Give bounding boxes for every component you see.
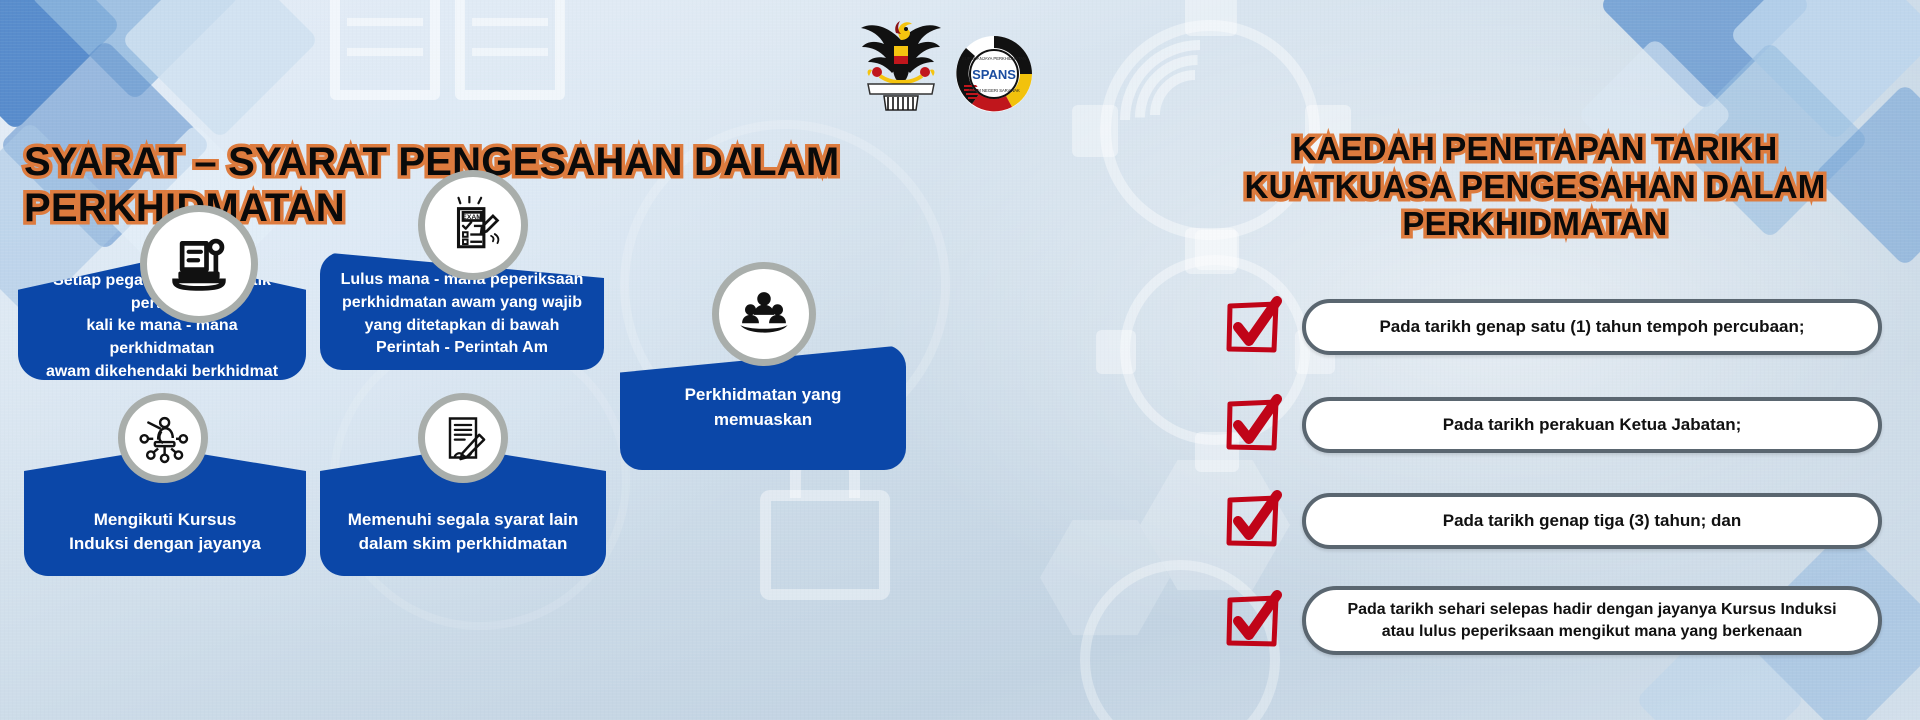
svg-text:SURUHANJAYA PERKHIDMATAN: SURUHANJAYA PERKHIDMATAN	[962, 56, 1026, 61]
card-text: Mengikuti Kursus Induksi dengan jayanya	[38, 508, 292, 556]
card-text: Lulus mana - mana peperiksaan perkhidmat…	[334, 269, 590, 360]
decorative-diamond	[29, 0, 241, 101]
shelf-outline-icon	[330, 0, 440, 100]
gear-tooth	[1072, 105, 1118, 157]
check-item-1[interactable]: Pada tarikh genap satu (1) tahun tempoh …	[1222, 296, 1882, 358]
gear-tooth	[1096, 330, 1136, 374]
check-box-glyph	[1222, 590, 1284, 652]
check-box-icon[interactable]	[1222, 590, 1284, 652]
check-item-4[interactable]: Pada tarikh sehari selepas hadir dengan …	[1222, 586, 1882, 655]
shelf-outline-icon	[455, 0, 565, 100]
card-text: Perkhidmatan yang memuaskan	[634, 383, 892, 431]
people-group-icon	[712, 262, 816, 366]
training-presenter-icon	[118, 393, 208, 483]
check-item-label: Pada tarikh sehari selepas hadir dengan …	[1302, 586, 1882, 655]
right-panel-title: KAEDAH PENETAPAN TARIKH KUATKUASA PENGES…	[1215, 130, 1855, 243]
exam-checklist-glyph: EXAM	[444, 196, 502, 254]
check-item-label: Pada tarikh genap tiga (3) tahun; dan	[1302, 493, 1882, 549]
spans-logo-icon: SPANS SURUHANJAYA PERKHIDMATAN AWAM NEGE…	[954, 34, 1034, 114]
svg-text:AWAM NEGERI SARAWAK: AWAM NEGERI SARAWAK	[968, 88, 1020, 93]
card-text: Memenuhi segala syarat lain dalam skim p…	[334, 508, 592, 556]
decorative-diamond	[121, 0, 319, 139]
check-item-2[interactable]: Pada tarikh perakuan Ketua Jabatan;	[1222, 394, 1882, 456]
contract-stamp-glyph	[169, 234, 229, 294]
hexagon-outline	[1040, 520, 1170, 635]
decorative-diamond	[1599, 0, 1811, 111]
check-box-icon[interactable]	[1222, 394, 1284, 456]
lock-outline-icon	[760, 490, 890, 600]
logo-group: SPANS SURUHANJAYA PERKHIDMATAN AWAM NEGE…	[858, 6, 1034, 114]
people-group-glyph	[737, 289, 791, 339]
check-box-glyph	[1222, 296, 1284, 358]
svg-text:EXAM: EXAM	[462, 214, 482, 221]
check-box-icon[interactable]	[1222, 296, 1284, 358]
exam-checklist-icon: EXAM	[418, 170, 528, 280]
check-box-glyph	[1222, 394, 1284, 456]
sarawak-coat-of-arms-icon	[858, 6, 944, 111]
decorative-diamond	[0, 0, 121, 131]
check-item-3[interactable]: Pada tarikh genap tiga (3) tahun; dan	[1222, 490, 1882, 552]
svg-text:SPANS: SPANS	[972, 67, 1016, 82]
signing-document-glyph	[437, 412, 489, 464]
gear-tooth	[1185, 0, 1237, 36]
training-presenter-glyph	[137, 412, 189, 464]
check-item-label: Pada tarikh perakuan Ketua Jabatan;	[1302, 397, 1882, 453]
infographic-canvas: SPANS SURUHANJAYA PERKHIDMATAN AWAM NEGE…	[0, 0, 1920, 720]
check-box-glyph	[1222, 490, 1284, 552]
signing-document-icon	[418, 393, 508, 483]
check-item-label: Pada tarikh genap satu (1) tahun tempoh …	[1302, 299, 1882, 355]
contract-stamp-icon	[140, 205, 258, 323]
check-box-icon[interactable]	[1222, 490, 1284, 552]
decorative-diamond	[1729, 0, 1920, 141]
